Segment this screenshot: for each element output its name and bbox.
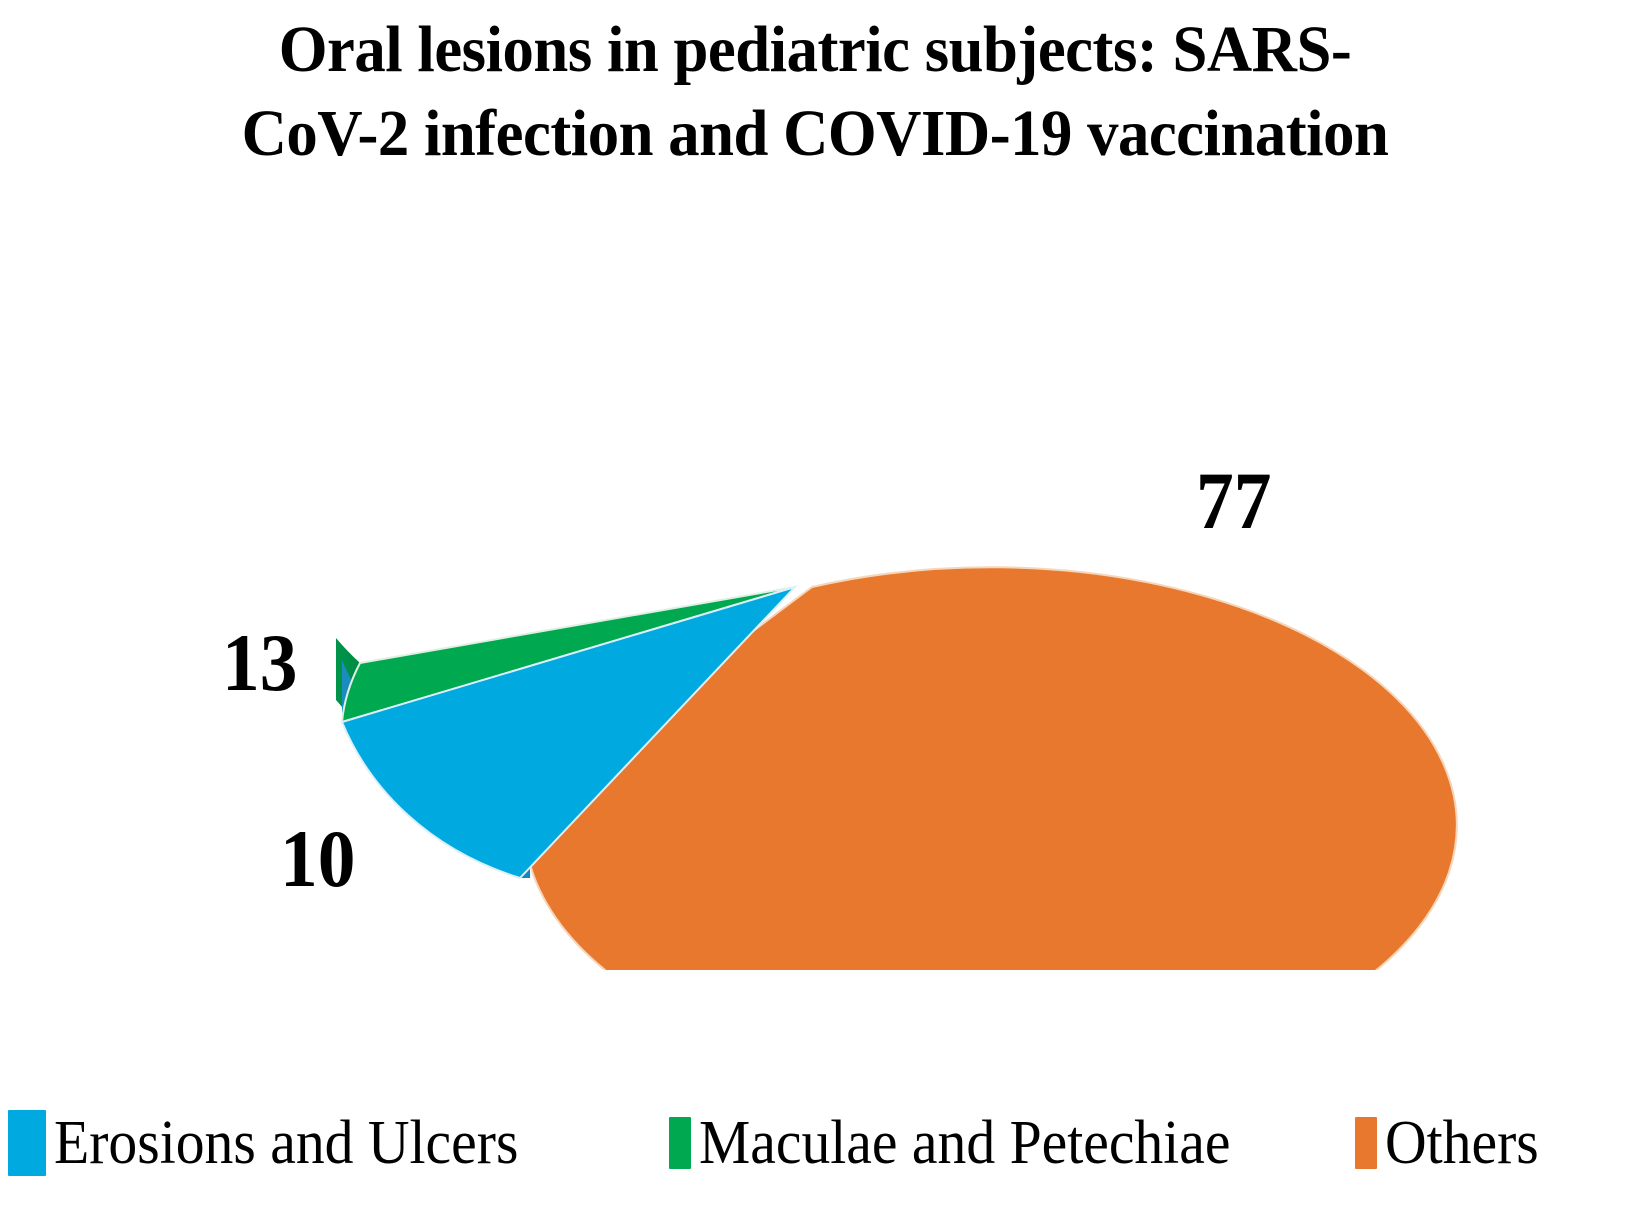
legend-swatch-blue-icon	[8, 1110, 46, 1176]
legend-swatch-orange-icon	[1355, 1117, 1377, 1169]
data-label-maculae: 13	[222, 622, 297, 704]
legend-label-erosions: Erosions and Ulcers	[54, 1111, 518, 1175]
legend-item-others[interactable]: Others	[1355, 1111, 1550, 1175]
legend-item-maculae[interactable]: Maculae and Petechiae	[669, 1111, 1270, 1175]
chart-title-line-2: CoV-2 infection and COVID-19 vaccination	[41, 92, 1590, 176]
data-label-erosions: 10	[280, 818, 355, 900]
chart-legend: Erosions and Ulcers Maculae and Petechia…	[0, 1098, 1630, 1188]
legend-swatch-green-icon	[669, 1117, 691, 1169]
chart-title-line-1: Oral lesions in pediatric subjects: SARS…	[41, 8, 1590, 92]
legend-item-erosions[interactable]: Erosions and Ulcers	[8, 1110, 553, 1176]
legend-label-others: Others	[1385, 1111, 1539, 1175]
data-label-others: 77	[1196, 460, 1271, 542]
pie-chart-figure: Oral lesions in pediatric subjects: SARS…	[0, 0, 1630, 1230]
legend-label-maculae: Maculae and Petechiae	[699, 1111, 1230, 1175]
chart-title: Oral lesions in pediatric subjects: SARS…	[0, 8, 1630, 176]
